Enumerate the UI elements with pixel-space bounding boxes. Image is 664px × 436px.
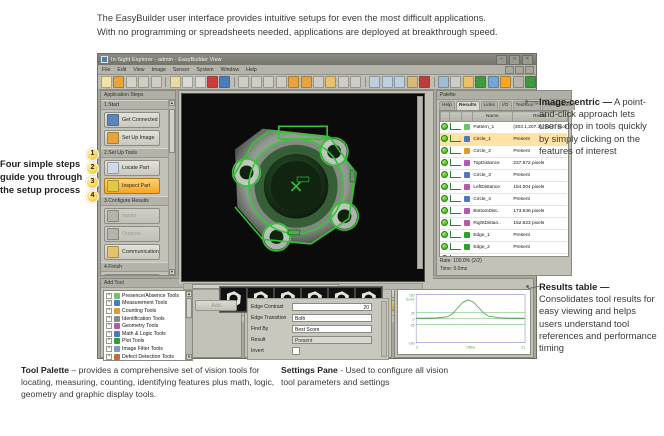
mdi-buttons [505,66,534,74]
toolbar-button-16-icon[interactable] [301,76,312,88]
application-steps-title: Application Steps [101,91,175,100]
part-overlay-graphics [182,94,424,281]
tool-type-icon [464,220,470,226]
callout-four-steps-line2: guide you through [0,170,96,183]
svg-text:Offset: Offset [466,345,475,349]
row-tool-type [461,158,472,170]
sidebar-item-set-up-image[interactable]: Set Up Image [104,130,160,146]
row-result: Present [512,194,567,206]
tool-type-icon [464,160,470,166]
row-status [440,146,449,158]
tool-category-label: Plot Tools [122,338,144,344]
row-tool-type [461,230,472,242]
toolbar-separator [365,77,366,87]
toolbar-button-13-icon[interactable] [263,76,274,88]
tool-tree[interactable]: +Presence/Absence Tools+Measurement Tool… [103,290,193,361]
palette-rate: Rate: 100.0% (2/2) [437,257,571,265]
status-led-icon [441,159,448,166]
tool-type-icon [464,256,470,258]
results-row[interactable]: Circle_4Present [440,194,567,206]
status-led-icon [441,135,448,142]
label-edge-transition: Edge Transition [251,315,289,321]
select-edge-transition[interactable]: Both [292,314,372,322]
col-name: Name [472,112,512,122]
status-led-icon [441,231,448,238]
settings-form: Edge Contrast 20 Edge Transition Both Fi… [247,298,389,360]
tool-category-label: Identification Tools [122,316,165,322]
tool-category-image-filter-tools[interactable]: +Image Filter Tools [104,345,192,353]
tool-type-icon [464,244,470,250]
status-led-icon [441,171,448,178]
row-name: TopAngle [472,254,512,258]
toolbar-button-18-icon[interactable] [325,76,336,88]
tool-category-presence-absence-tools[interactable]: +Presence/Absence Tools [104,292,192,300]
row-result: 154.004 pixels [512,182,567,194]
tool-category-label: Math & Logic Tools [122,331,166,337]
toolbar-button-7-icon[interactable] [182,76,193,88]
application-steps-scroll: 1.StartGet ConnectedSet Up Image2.Set Up… [101,100,175,275]
window-buttons: – □ × [496,55,534,65]
sidebar-group-1: 1.Start [101,100,168,110]
row-link [449,218,461,230]
row-link [449,230,461,242]
title-bar: In-Sight Explorer - admin - EasyBuilder … [98,54,536,65]
tool-category-plot-tools[interactable]: +Plot Tools [104,338,192,346]
tool-type-icon [464,172,470,178]
toolbar-button-22-icon[interactable] [382,76,393,88]
caption-settings-pane-title: Settings Pane [281,365,338,375]
svg-text:21: 21 [521,345,525,349]
row-link [449,206,461,218]
tooltree-scroll-thumb[interactable] [186,298,192,318]
expand-icon[interactable]: + [106,338,112,344]
svg-text:0: 0 [413,317,415,321]
palette-tab-help[interactable]: Help [439,101,455,110]
row-link [449,254,461,258]
field-edge-transition: Edge Transition Both [251,313,386,322]
expand-icon[interactable]: + [106,346,112,352]
toolbar-button-26-icon[interactable] [438,76,449,88]
row-name: Pattern_1 [472,122,512,134]
row-name: TopDistance [472,158,512,170]
menu-item-help[interactable]: Help [246,67,257,73]
image-canvas-area [179,91,433,284]
toolbar-button-9-icon[interactable] [207,76,218,88]
callout-four-steps: Four simple steps guide you through the … [0,157,96,196]
leader-line-image-centric [527,101,538,102]
label-invert: Invert [251,348,289,354]
row-name: Circle_2 [472,146,512,158]
intro-line-2: With no programming or spreadsheets need… [97,26,567,40]
sidebar-item-label: Locate Part [122,165,149,171]
tool-category-label: Image Filter Tools [122,346,163,352]
row-status [440,182,449,194]
row-status [440,122,449,134]
field-result: Result Present [251,335,386,344]
toolbar-button-5-icon[interactable] [151,76,162,88]
menu-item-system[interactable]: System [196,67,213,73]
menu-item-window[interactable]: Window [221,67,239,73]
expand-icon[interactable]: + [106,354,112,360]
toolbar-button-31-icon[interactable] [500,76,511,88]
add-tool-panel: Add Tool +Presence/Absence Tools+Measure… [100,278,242,358]
tool-type-icon [464,196,470,202]
tool-type-icon [464,208,470,214]
application-window: In-Sight Explorer - admin - EasyBuilder … [97,53,537,359]
locate-icon [107,162,119,174]
tool-category-geometry-tools[interactable]: +Geometry Tools [104,322,192,330]
toolbar-separator [434,77,435,87]
sidebar-group-3: 3.Configure Results [101,196,168,206]
step-badge-3: 3 [86,176,99,189]
sidebar-scroll-down-icon[interactable]: ▼ [169,269,175,275]
menu-item-edit[interactable]: Edit [117,67,126,73]
status-led-icon [441,243,448,250]
tool-category-defect-detection-tools[interactable]: +Defect Detection Tools [104,353,192,361]
select-find-by[interactable]: Best Score [292,325,372,333]
expand-icon[interactable]: + [106,331,112,337]
expand-icon[interactable]: + [106,323,112,329]
tool-category-label: Counting Tools [122,308,156,314]
row-link [449,122,461,134]
toolbar-button-25-icon[interactable] [419,76,430,88]
row-name: Circle_1 [472,134,512,146]
row-tool-type [461,254,472,258]
tool-type-icon [464,184,470,190]
row-name: Edge_1 [472,230,512,242]
row-tool-type [461,206,472,218]
row-result: 237.572 pixels [512,158,567,170]
tool-category-icon [114,323,120,329]
sidebar-item-communication[interactable]: Communication [104,244,160,260]
toolbar-button-20-icon[interactable] [350,76,361,88]
toolbar-button-12-icon[interactable] [251,76,262,88]
results-row[interactable]: LeftDistance154.004 pixels [440,182,567,194]
sidebar-item-label: Get Connected [122,117,158,123]
image-viewer-panel: PC Sensor 57% Job Size Available Offline [178,90,434,276]
palette-time: Time: 0.0ms [437,265,571,275]
sidebar-scrollbar[interactable]: ▲ ▼ [168,100,175,275]
status-led-icon [441,207,448,214]
results-row[interactable]: Edge_2Present [440,242,567,254]
tool-category-label: Geometry Tools [122,323,158,329]
results-row[interactable]: Edge_1Present [440,230,567,242]
row-status [440,230,449,242]
value-result: Present [292,336,372,344]
label-edge-contrast: Edge Contrast [251,304,289,310]
leader-dot-image-centric [525,100,528,103]
inputs-icon [107,210,119,222]
row-name: Circle_3 [472,170,512,182]
tool-type-icon [464,136,470,142]
step-badge-2: 2 [86,162,99,175]
sidebar-item-label: Set Up Image [122,135,154,141]
row-status [440,242,449,254]
application-steps-panel: Application Steps 1.StartGet ConnectedSe… [100,90,176,276]
row-link [449,194,461,206]
field-find-by: Find By Best Score [251,324,386,333]
tool-category-icon [114,308,120,314]
col-status [440,112,449,122]
label-find-by: Find By [251,326,289,332]
outputs-icon [107,228,119,240]
toolbar-button-14-icon[interactable] [276,76,287,88]
row-status [440,254,449,258]
toolbar-button-21-icon[interactable] [369,76,380,88]
image-icon [107,132,119,144]
status-led-icon [441,147,448,154]
tool-category-label: Defect Detection Tools [122,354,174,360]
expand-icon[interactable]: + [106,308,112,314]
input-edge-contrast[interactable]: 20 [292,303,372,311]
sidebar-item-label: Outputs [122,231,141,237]
svg-text:-100: -100 [408,341,415,345]
sidebar-item-locate-part[interactable]: Locate Part [104,160,160,176]
row-name: BottomDist.. [472,206,512,218]
results-row[interactable]: TopAngle150.074° [440,254,567,258]
palette-tab-results[interactable]: Results [456,101,480,110]
tooltree-scroll-down-icon[interactable]: ▼ [186,354,192,360]
canvas-vertical-scrollbar[interactable] [417,96,423,269]
toolbar-button-19-icon[interactable] [338,76,349,88]
tool-type-icon [464,124,470,130]
svg-text:25: 25 [411,311,415,315]
row-link [449,182,461,194]
tool-category-icon [114,331,120,337]
row-result: 150.074° [512,254,567,258]
row-status [440,218,449,230]
tool-category-icon [114,300,120,306]
toolbar-button-6-icon[interactable] [170,76,181,88]
toolbar-button-2-icon[interactable] [113,76,124,88]
row-tool-type [461,122,472,134]
tool-category-icon [114,293,120,299]
tool-type-icon [464,148,470,154]
toolbar-button-3-icon[interactable] [126,76,137,88]
row-name: Circle_4 [472,194,512,206]
callout-results-table-body: Consolidates tool results for easy viewi… [539,293,657,353]
row-status [440,134,449,146]
menu-bar: File Edit View Image Sensor System Windo… [98,65,536,75]
toolbar-button-17-icon[interactable] [313,76,324,88]
sidebar-item-outputs: Outputs [104,226,160,242]
toolbar-button-15-icon[interactable] [288,76,299,88]
connect-icon [107,114,119,126]
status-led-icon [441,255,448,257]
row-tool-type [461,242,472,254]
results-row[interactable]: RightDistan..152.623 pixels [440,218,567,230]
tool-category-counting-tools[interactable]: +Counting Tools [104,307,192,315]
results-row[interactable]: TopDistance237.572 pixels [440,158,567,170]
tool-category-icon [114,338,120,344]
minimize-button[interactable]: – [496,55,507,65]
sidebar-item-label: Communication [122,249,159,255]
tool-tree-scrollbar[interactable]: ▲ ▼ [185,291,192,360]
row-status [440,170,449,182]
settings-scrollbar[interactable] [381,301,387,357]
palette-tab-links[interactable]: Links [481,101,498,110]
col-type [461,112,472,122]
sidebar-item-inputs: Inputs [104,208,160,224]
mdi-close-button[interactable] [525,66,534,74]
close-button[interactable]: × [522,55,533,65]
toolbar-button-27-icon[interactable] [450,76,461,88]
mdi-restore-button[interactable] [515,66,524,74]
score-chart-svg: 100250-25-100Score021Offset [398,290,530,354]
row-result: 173.636 pixels [512,206,567,218]
toolbar-button-24-icon[interactable] [407,76,418,88]
expand-icon[interactable]: + [106,316,112,322]
tool-type-icon [464,232,470,238]
row-tool-type [461,134,472,146]
step-badge-1: 1 [86,148,99,161]
communication-icon [107,246,119,258]
tool-category-identification-tools[interactable]: +Identification Tools [104,315,192,323]
sidebar-item-label: Inputs [122,213,136,219]
image-canvas[interactable] [181,93,425,282]
callout-results-table-title: Results table — [539,281,609,292]
toolbar-button-23-icon[interactable] [394,76,405,88]
expand-icon[interactable]: + [106,300,112,306]
row-name: RightDistan.. [472,218,512,230]
toolbar-button-30-icon[interactable] [488,76,499,88]
checkbox-invert[interactable] [292,347,300,355]
row-tool-type [461,194,472,206]
row-link [449,134,461,146]
app-logo-icon [101,56,108,63]
menu-item-view[interactable]: View [133,67,144,73]
sidebar-group-2: 2.Set Up Tools [101,148,168,158]
status-led-icon [441,195,448,202]
status-led-icon [441,183,448,190]
palette-tab-i-o[interactable]: I/O [499,101,512,110]
row-result: Present [512,170,567,182]
row-tool-type [461,182,472,194]
row-link [449,146,461,158]
row-link [449,158,461,170]
tool-category-label: Presence/Absence Tools [122,293,179,299]
score-chart: 100250-25-100Score021Offset [397,289,531,355]
mdi-minimize-button[interactable] [505,66,514,74]
label-result: Result [251,337,289,343]
row-status [440,206,449,218]
row-tool-type [461,170,472,182]
menu-item-sensor[interactable]: Sensor [173,67,189,73]
svg-text:Score: Score [406,298,415,302]
toolbar-separator [165,77,166,87]
window-title: In-Sight Explorer - admin - EasyBuilder … [111,57,222,63]
status-led-icon [441,219,448,226]
row-result: Present [512,242,567,254]
results-row[interactable]: Circle_3Present [440,170,567,182]
col-link [449,112,461,122]
toolbar-button-28-icon[interactable] [463,76,474,88]
sidebar-item-get-connected[interactable]: Get Connected [104,112,160,128]
row-link [449,170,461,182]
sidebar-item-filmstrip[interactable]: Filmstrip [104,274,160,275]
row-name: LeftDistance [472,182,512,194]
row-tool-type [461,218,472,230]
inspect-icon [107,180,119,192]
toolbar-button-1-icon[interactable] [101,76,112,88]
toolbar-button-10-icon[interactable] [219,76,230,88]
toolbar-button-29-icon[interactable] [475,76,486,88]
status-led-icon [441,123,448,130]
window-body: Application Steps 1.StartGet ConnectedSe… [98,88,536,358]
tool-category-measurement-tools[interactable]: +Measurement Tools [104,300,192,308]
toolbar-button-4-icon[interactable] [138,76,149,88]
row-name: Edge_2 [472,242,512,254]
tool-category-icon [114,316,120,322]
callout-four-steps-line1: Four simple steps [0,157,96,170]
tool-category-label: Measurement Tools [122,300,167,306]
field-edge-contrast: Edge Contrast 20 [251,302,386,311]
sidebar-group-4: 4.Finish [101,262,168,272]
tooltree-scroll-up-icon[interactable]: ▲ [186,291,192,297]
toolbar-button-11-icon[interactable] [238,76,249,88]
caption-settings-pane: Settings Pane - Used to configure all vi… [281,364,461,388]
callout-four-steps-line3: the setup process [0,183,96,196]
row-status [440,158,449,170]
tool-category-icon [114,354,120,360]
toolbar-button-33-icon[interactable] [525,76,536,88]
toolbar-button-32-icon[interactable] [513,76,524,88]
callout-image-centric-title: Image-centric — [539,96,612,107]
sidebar-item-inspect-part[interactable]: Inspect Part [104,178,160,194]
tool-category-math-logic-tools[interactable]: +Math & Logic Tools [104,330,192,338]
tool-category-icon [114,346,120,352]
toolbar-button-8-icon[interactable] [195,76,206,88]
caption-tool-palette: Tool Palette – provides a comprehensive … [21,364,289,400]
caption-tool-palette-title: Tool Palette [21,365,69,375]
plot-panel: 100250-25-100Score021Offset [394,278,534,358]
svg-text:-25: -25 [410,323,415,327]
row-status [440,194,449,206]
callout-image-centric: Image-centric — A point-and-click approa… [539,96,659,157]
menu-item-image[interactable]: Image [151,67,165,73]
add-button[interactable]: Add [195,300,237,311]
upper-panes: Application Steps 1.StartGet ConnectedSe… [100,90,534,276]
results-row[interactable]: BottomDist..173.636 pixels [440,206,567,218]
intro-line-1: The EasyBuilder user interface provides … [97,12,567,26]
row-link [449,242,461,254]
expand-icon[interactable]: + [106,293,112,299]
row-result: Present [512,230,567,242]
callout-results-table: Results table — Consolidates tool result… [539,281,659,354]
intro-text: The EasyBuilder user interface provides … [97,12,567,39]
field-invert: Invert [251,346,386,355]
row-result: 152.623 pixels [512,218,567,230]
sidebar-scroll-up-icon[interactable]: ▲ [169,100,175,106]
svg-text:0: 0 [416,345,418,349]
step-badge-4: 4 [86,190,99,203]
menu-item-file[interactable]: File [102,67,110,73]
sidebar-scroll-thumb[interactable] [169,109,175,153]
toolbar-separator [234,77,235,87]
sidebar-item-label: Inspect Part [122,183,150,189]
leader-dot-results-table [526,285,529,288]
maximize-button[interactable]: □ [509,55,520,65]
row-tool-type [461,146,472,158]
